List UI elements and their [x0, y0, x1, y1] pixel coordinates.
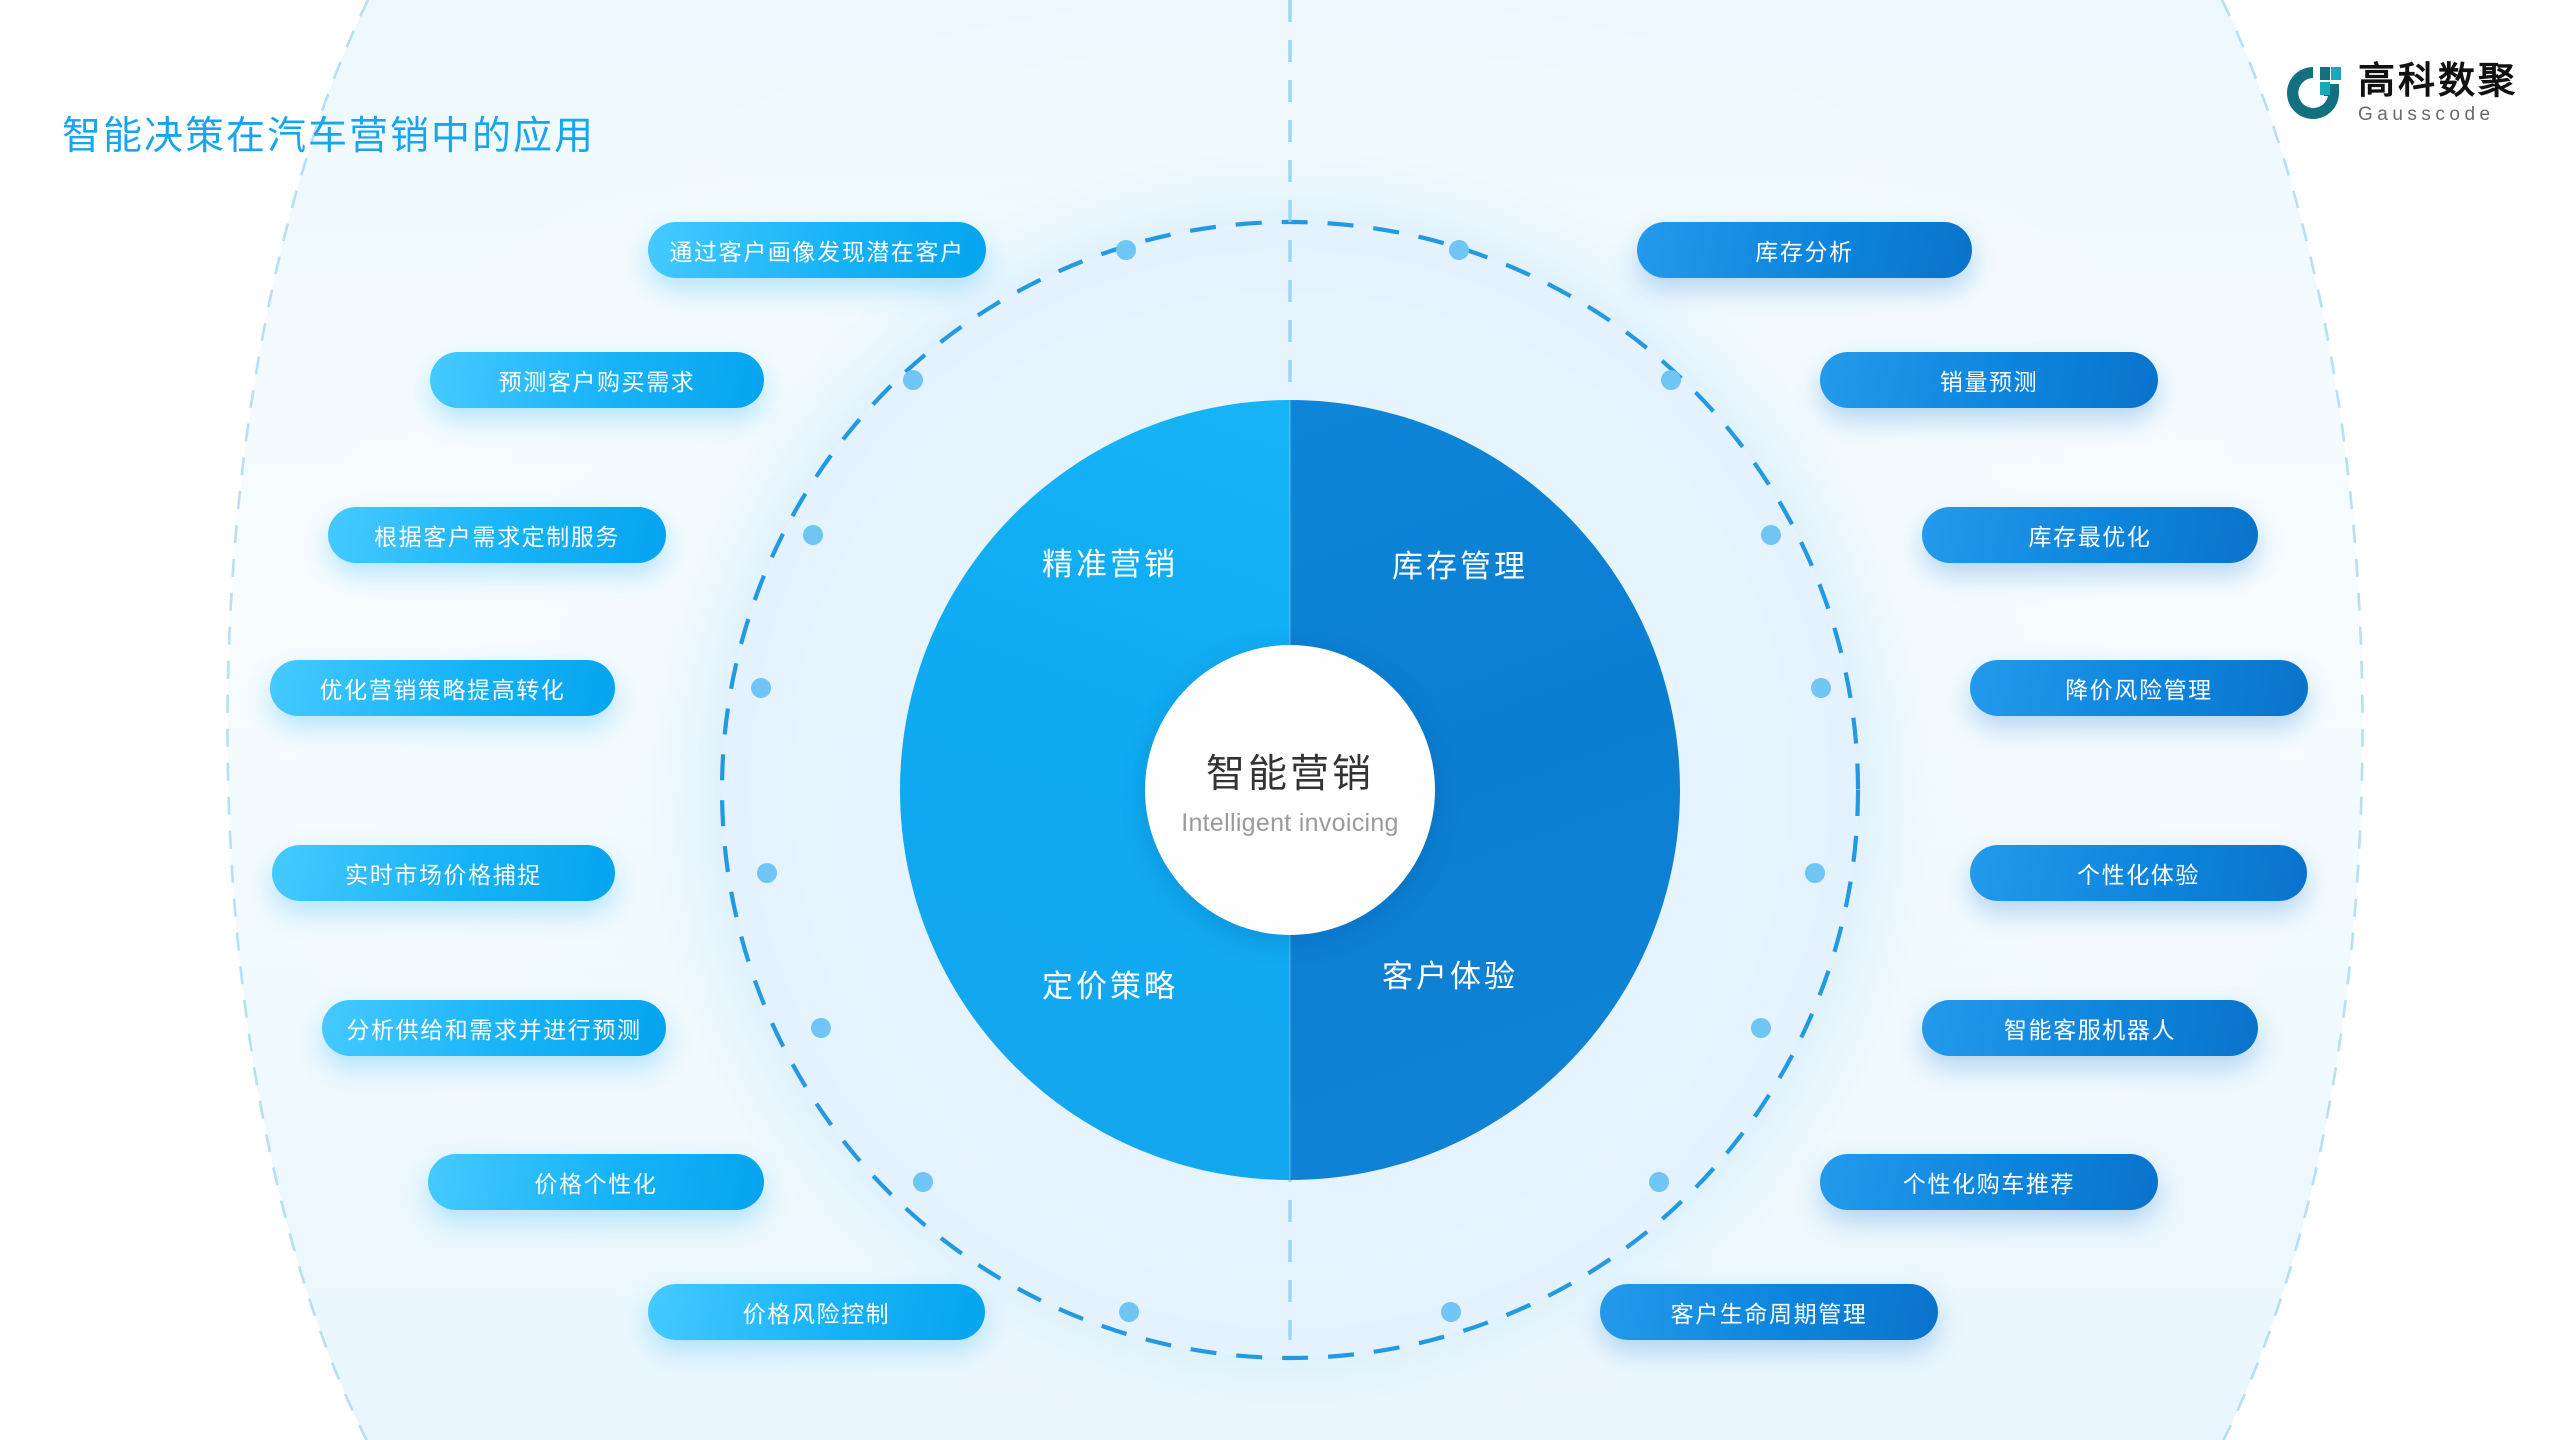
right-item-4[interactable]: 降价风险管理	[1970, 660, 2308, 716]
connector-dot	[1116, 240, 1136, 260]
connector-dot	[1119, 1302, 1139, 1322]
connector-dot	[1811, 678, 1831, 698]
right-item-3[interactable]: 库存最优化	[1922, 507, 2258, 563]
left-item-4[interactable]: 优化营销策略提高转化	[270, 660, 615, 716]
logo-name-en: Gausscode	[2358, 105, 2518, 124]
center-hub: 智能营销 Intelligent invoicing	[1145, 645, 1435, 935]
connector-dot	[1449, 240, 1469, 260]
gausscode-logo-icon	[2284, 64, 2342, 122]
right-item-6[interactable]: 智能客服机器人	[1922, 1000, 2258, 1056]
quadrant-label-bottom-left: 定价策略	[1042, 961, 1178, 1006]
right-item-7[interactable]: 个性化购车推荐	[1820, 1154, 2158, 1210]
right-item-1[interactable]: 库存分析	[1637, 222, 1972, 278]
connector-dot	[1805, 863, 1825, 883]
left-item-7[interactable]: 价格个性化	[428, 1154, 764, 1210]
connector-dot	[1761, 525, 1781, 545]
left-item-2[interactable]: 预测客户购买需求	[430, 352, 764, 408]
left-item-8[interactable]: 价格风险控制	[648, 1284, 985, 1340]
quadrant-label-bottom-right: 客户体验	[1382, 951, 1518, 996]
left-item-5[interactable]: 实时市场价格捕捉	[272, 845, 615, 901]
connector-dot	[903, 370, 923, 390]
left-item-3[interactable]: 根据客户需求定制服务	[328, 507, 666, 563]
left-item-6[interactable]: 分析供给和需求并进行预测	[322, 1000, 666, 1056]
hub-title-cn: 智能营销	[1206, 743, 1374, 799]
left-item-1[interactable]: 通过客户画像发现潜在客户	[648, 222, 986, 278]
infographic-canvas: 智能决策在汽车营销中的应用 高科数聚 Gausscode 精准营销 库存管理 定…	[0, 0, 2560, 1440]
connector-dot	[751, 678, 771, 698]
brand-logo: 高科数聚 Gausscode	[2284, 62, 2518, 124]
page-title: 智能决策在汽车营销中的应用	[62, 105, 595, 161]
quadrant-label-top-right: 库存管理	[1392, 541, 1528, 586]
right-item-2[interactable]: 销量预测	[1820, 352, 2158, 408]
logo-name-cn: 高科数聚	[2358, 62, 2518, 99]
connector-dot	[803, 525, 823, 545]
connector-dot	[1441, 1302, 1461, 1322]
right-item-5[interactable]: 个性化体验	[1970, 845, 2307, 901]
connector-dot	[811, 1018, 831, 1038]
connector-dot	[1751, 1018, 1771, 1038]
connector-dot	[757, 863, 777, 883]
connector-dot	[1661, 370, 1681, 390]
hub-title-en: Intelligent invoicing	[1181, 809, 1399, 838]
right-item-8[interactable]: 客户生命周期管理	[1600, 1284, 1938, 1340]
quadrant-label-top-left: 精准营销	[1042, 539, 1178, 584]
